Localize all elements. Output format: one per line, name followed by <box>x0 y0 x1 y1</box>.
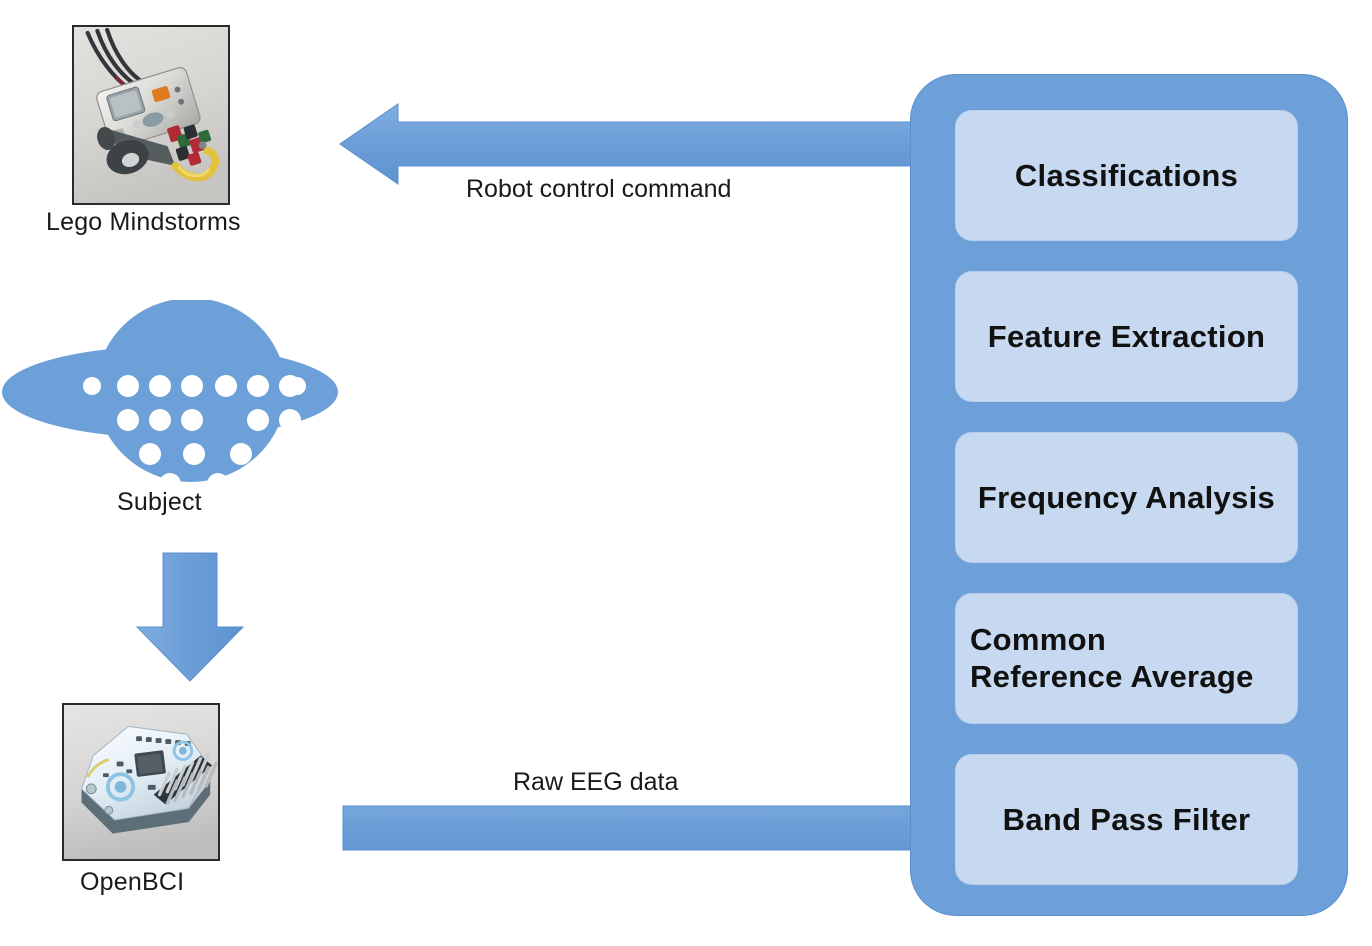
pipeline-stage-label: Common Reference Average <box>970 622 1254 695</box>
pipeline-stage-feature-extraction[interactable]: Feature Extraction <box>955 271 1298 402</box>
edge-label-raw-eeg-data: Raw EEG data <box>513 768 678 797</box>
openbci-board-illustration <box>64 705 218 859</box>
pipeline-stage-list: Classifications Feature Extraction Frequ… <box>955 110 1298 886</box>
pipeline-stage-classifications[interactable]: Classifications <box>955 110 1298 241</box>
openbci-photo <box>62 703 220 861</box>
pipeline-stage-frequency-analysis[interactable]: Frequency Analysis <box>955 432 1298 563</box>
arrow-subject-to-openbci <box>137 553 243 681</box>
eeg-electrode-map-icon <box>0 300 340 500</box>
openbci-caption: OpenBCI <box>80 868 184 897</box>
pipeline-stage-label: Band Pass Filter <box>1003 802 1251 838</box>
diagram-canvas: Lego Mindstorms <box>0 0 1372 946</box>
subject-head-diagram <box>0 300 340 500</box>
subject-caption: Subject <box>117 488 202 517</box>
pipeline-stage-label: Classifications <box>1015 158 1238 194</box>
pipeline-stage-common-reference-average[interactable]: Common Reference Average <box>955 593 1298 724</box>
pipeline-stage-label: Feature Extraction <box>988 319 1266 355</box>
pipeline-stage-label-line-2: Reference Average <box>970 659 1254 694</box>
pipeline-stage-band-pass-filter[interactable]: Band Pass Filter <box>955 754 1298 885</box>
pipeline-stage-label: Frequency Analysis <box>978 480 1275 516</box>
arrow-robot-control-command <box>340 104 975 184</box>
arrow-raw-eeg-data <box>343 788 978 868</box>
lego-mindstorms-photo <box>72 25 230 205</box>
lego-mindstorms-caption: Lego Mindstorms <box>46 208 241 237</box>
pipeline-stage-label-line-1: Common <box>970 622 1106 657</box>
lego-mindstorms-illustration <box>74 27 228 203</box>
edge-label-robot-control-command: Robot control command <box>466 175 731 204</box>
